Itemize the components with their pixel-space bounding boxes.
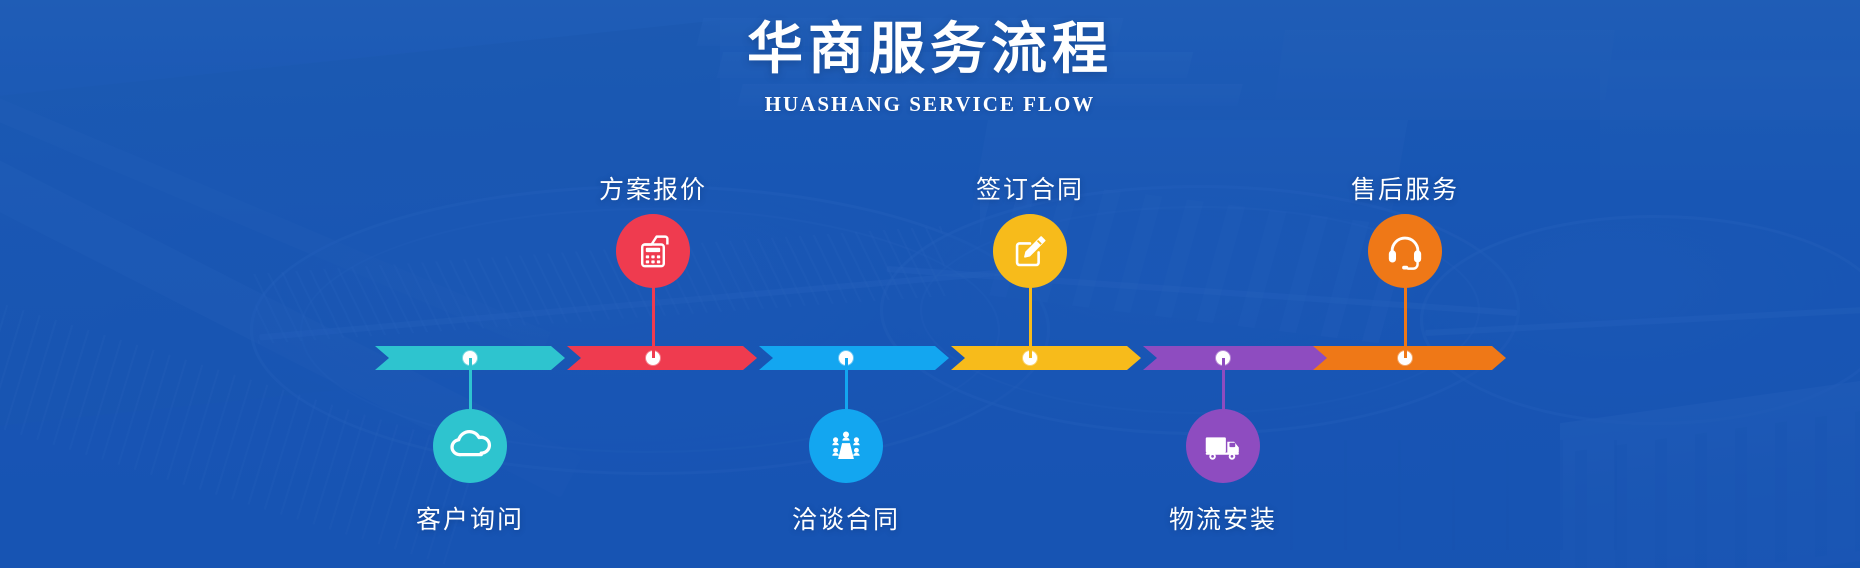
flow-chevron-segment-2[interactable] — [567, 346, 757, 370]
flow-connector-stem-1 — [469, 358, 472, 416]
flow-step-bubble-3[interactable] — [809, 409, 883, 483]
flow-connector-stem-6 — [1404, 281, 1407, 358]
flow-connector-stem-4 — [1029, 281, 1032, 358]
cloud-icon — [447, 423, 493, 469]
flow-step-label-3: 洽谈合同 — [726, 500, 966, 536]
flow-step-bubble-2[interactable] — [616, 214, 690, 288]
flow-step-label-6: 售后服务 — [1285, 170, 1525, 206]
flow-step-bubble-5[interactable] — [1186, 409, 1260, 483]
flow-chevron-segment-4[interactable] — [951, 346, 1141, 370]
sign-contract-icon — [1007, 228, 1053, 274]
meeting-icon — [823, 423, 869, 469]
flow-connector-stem-5 — [1222, 358, 1225, 416]
headset-support-icon — [1382, 228, 1428, 274]
page-subtitle: HUASHANG SERVICE FLOW — [0, 92, 1860, 117]
page-title: 华商服务流程 — [0, 18, 1860, 82]
flow-chevron-segment-5[interactable] — [1143, 346, 1333, 370]
flow-connector-stem-2 — [652, 281, 655, 358]
service-flow-banner: 华商服务流程 HUASHANG SERVICE FLOW 客户询问方案报价洽谈合… — [0, 0, 1860, 568]
flow-step-label-4: 签订合同 — [910, 170, 1150, 206]
flow-step-label-5: 物流安装 — [1103, 500, 1343, 536]
title-block: 华商服务流程 HUASHANG SERVICE FLOW — [0, 18, 1860, 117]
flow-step-bubble-4[interactable] — [993, 214, 1067, 288]
flow-chevron-segment-6[interactable] — [1313, 346, 1506, 370]
delivery-truck-icon — [1200, 423, 1246, 469]
flow-connector-stem-3 — [845, 358, 848, 416]
pos-terminal-icon — [630, 228, 676, 274]
flow-chevron-segment-3[interactable] — [759, 346, 949, 370]
banner-content: 华商服务流程 HUASHANG SERVICE FLOW 客户询问方案报价洽谈合… — [0, 0, 1860, 568]
flow-step-label-2: 方案报价 — [533, 170, 773, 206]
flow-chevron-bar — [0, 346, 1860, 370]
flow-step-label-1: 客户询问 — [350, 500, 590, 536]
flow-step-bubble-1[interactable] — [433, 409, 507, 483]
flow-step-bubble-6[interactable] — [1368, 214, 1442, 288]
